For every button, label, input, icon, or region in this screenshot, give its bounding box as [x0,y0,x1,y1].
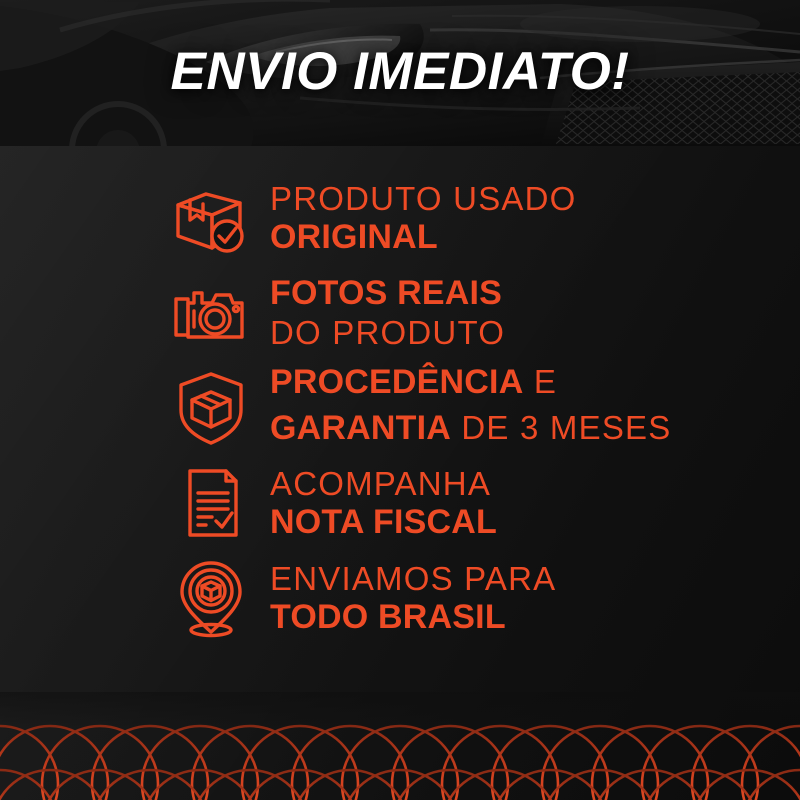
feature-line-1-bold: PROCEDÊNCIA [270,363,523,401]
location-pin-box-icon [168,558,254,638]
box-check-icon [168,178,254,258]
feature-line-2: TODO BRASIL [270,598,556,637]
feature-text: ENVIAMOS PARA TODO BRASIL [270,559,556,637]
feature-row: PROCEDÊNCIA E GARANTIA DE 3 MESES [0,360,800,455]
feature-line-1: PRODUTO USADO [270,179,577,218]
feature-row: ACOMPANHA NOTA FISCAL [0,455,800,550]
feature-text: PROCEDÊNCIA E GARANTIA DE 3 MESES [270,362,671,454]
feature-line-1: ACOMPANHA [270,464,497,503]
feature-list: PRODUTO USADO ORIGINAL [0,170,800,645]
feature-text: ACOMPANHA NOTA FISCAL [270,464,497,542]
footer-pattern [0,692,800,800]
feature-line-1-thin: E [523,363,557,400]
feature-row: PRODUTO USADO ORIGINAL [0,170,800,265]
shield-box-icon [168,368,254,448]
feature-row: ENVIAMOS PARA TODO BRASIL [0,550,800,645]
promo-banner: ENVIO IMEDIATO! PRODUT [0,0,800,800]
feature-line-2: GARANTIA DE 3 MESES [270,408,671,454]
feature-row: FOTOS REAIS DO PRODUTO [0,265,800,360]
document-check-icon [168,463,254,543]
camera-icon [168,273,254,353]
feature-text: PRODUTO USADO ORIGINAL [270,179,577,257]
page-title: ENVIO IMEDIATO! [0,42,800,102]
header-section: ENVIO IMEDIATO! [0,0,800,146]
feature-line-2: NOTA FISCAL [270,503,497,542]
feature-line-2-bold: GARANTIA [270,409,451,447]
feature-line-2: ORIGINAL [270,218,577,257]
feature-line-1: FOTOS REAIS [270,274,505,313]
feature-line-2-thin: DE 3 MESES [451,409,671,446]
feature-line-2: DO PRODUTO [270,313,505,352]
feature-line-1: ENVIAMOS PARA [270,559,556,598]
feature-line-1: PROCEDÊNCIA E [270,362,671,408]
feature-text: FOTOS REAIS DO PRODUTO [270,274,505,352]
